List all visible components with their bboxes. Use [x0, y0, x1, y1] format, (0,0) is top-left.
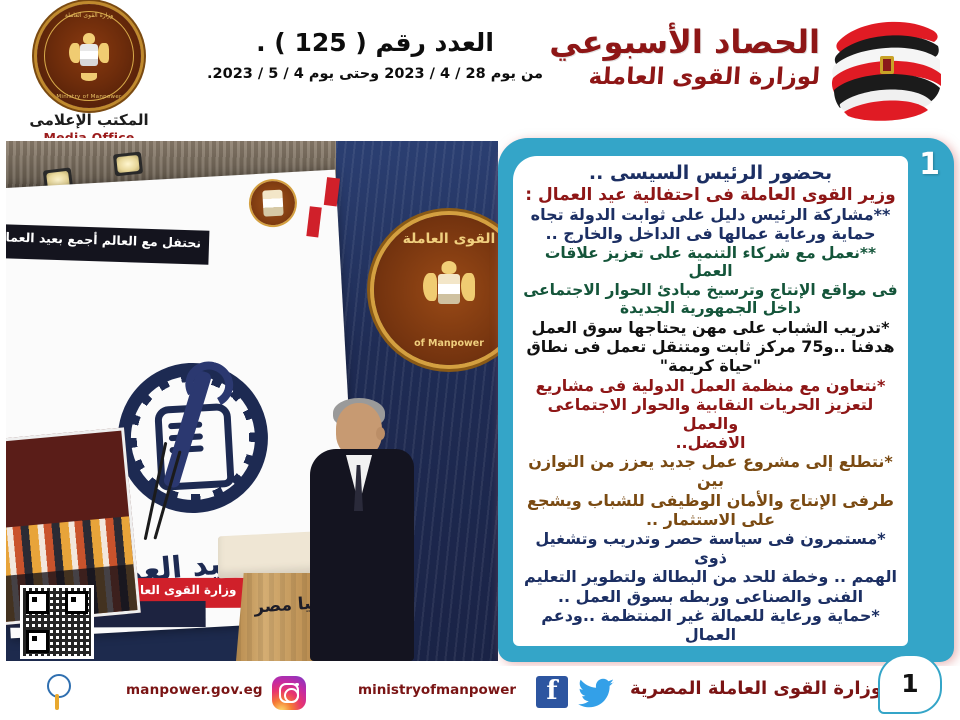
newsletter-page: وزارة القوى العاملة Ministry of Manpower… — [0, 0, 960, 720]
news-line: الافضل.. — [521, 433, 900, 452]
panel-content: بحضور الرئيس السيسى ..وزير القوى العاملة… — [513, 156, 908, 646]
news-line: لتعزيز الحريات النقابية والحوار الاجتماع… — [521, 395, 900, 433]
page-header: وزارة القوى العاملة Ministry of Manpower… — [0, 0, 960, 138]
backdrop-seal-text-en: of Manpower — [374, 338, 498, 349]
shield-stripe-bottom — [80, 59, 98, 66]
news-line: وزير القوى العاملة فى احتفالية عيد العما… — [521, 185, 900, 205]
panel-number-badge: 1 — [919, 150, 940, 180]
ministry-logo-block: وزارة القوى العاملة Ministry of Manpower… — [14, 4, 164, 134]
seal-top-text: وزارة القوى العاملة — [37, 12, 141, 19]
globe-stem — [55, 694, 59, 710]
news-line: *حماية ورعاية للعمالة غير المنتظمة ..ودع… — [521, 606, 900, 644]
stage-light-2 — [113, 152, 143, 177]
eagle-wing-left — [69, 43, 80, 63]
speaker-person — [306, 403, 418, 661]
news-line: الفنى والصناعى وربطه بسوق العمل .. — [521, 587, 900, 606]
social-account-name[interactable]: وزارة القوى العاملة المصرية — [630, 678, 882, 699]
egypt-flag-globe-icon — [828, 12, 946, 124]
person-ear — [376, 427, 385, 440]
backdrop-wing-left — [423, 273, 437, 301]
ministry-seal-icon: وزارة القوى العاملة Ministry of Manpower — [37, 4, 141, 108]
seal-bottom-text: Ministry of Manpower — [37, 94, 141, 100]
globe-search-icon — [44, 674, 70, 710]
media-office-arabic: المكتب الإعلامى — [14, 111, 164, 129]
screen-banner-text: نحتفل مع العالم أجمع بعيد العمال — [6, 229, 201, 250]
eagle-head — [83, 33, 95, 44]
backdrop-seal-text-ar: القوى العاملة — [374, 231, 498, 247]
news-line: **نعمل مع شركاء التنمية على تعزيز علاقات… — [521, 244, 900, 281]
news-line: بحضور الرئيس السيسى .. — [521, 162, 900, 185]
event-photo: القوى العاملة of Manpower نحتفل مع العال… — [6, 141, 498, 661]
backdrop-ministry-seal-icon: القوى العاملة of Manpower — [374, 215, 498, 365]
news-lines: بحضور الرئيس السيسى ..وزير القوى العاملة… — [513, 156, 908, 646]
eagle-tail — [81, 73, 97, 81]
backdrop-eagle-shield — [438, 274, 460, 304]
instagram-lens — [284, 688, 299, 703]
news-line: **مشاركة الرئيس دليل على ثوابت الدولة تج… — [521, 205, 900, 224]
news-line: *تدريب الشباب على مهن يحتاجها سوق العمل — [521, 318, 900, 337]
shield-stripe-top — [80, 44, 98, 51]
news-line: فى مواقع الإنتاج وترسيخ مبادئ الحوار الا… — [521, 281, 900, 300]
page-body: القوى العاملة of Manpower نحتفل مع العال… — [0, 138, 960, 666]
backdrop-eagle-head — [442, 261, 457, 274]
news-line: *مستمرون فى سياسة حصر وتدريب وتشغيل ذوى — [521, 529, 900, 567]
screen-eagle-seal-icon — [250, 180, 296, 226]
news-line: *نتعاون مع منظمة العمل الدولية فى مشاريع — [521, 376, 900, 395]
screen-red-tick-1 — [306, 206, 321, 237]
globe-ring — [47, 674, 71, 698]
shield-stripe-mid — [80, 51, 98, 58]
backdrop-wing-right — [461, 273, 475, 301]
backdrop-eagle-icon — [424, 261, 474, 319]
facebook-icon[interactable]: f — [536, 676, 568, 708]
news-line: داخل الجمهورية الجديدة — [521, 299, 900, 318]
news-line: *نتطلع إلى مشروع عمل جديد يعزز من التواز… — [521, 452, 900, 490]
page-number-badge: 1 — [878, 654, 942, 714]
instagram-handle[interactable]: ministryofmanpower — [358, 682, 516, 698]
twitter-icon[interactable] — [578, 678, 616, 708]
qr-eye-top-left — [26, 591, 49, 614]
news-line: هدفنا ..و75 مركز ثابت ومتنقل تعمل فى نطا… — [521, 337, 900, 356]
fist-wrench-gear-icon — [114, 359, 272, 517]
news-line: على الاستثمار .. — [521, 510, 900, 529]
page-title: الحصاد الأسبوعي — [490, 26, 820, 60]
eagle-wing-right — [98, 43, 109, 63]
news-text-panel: 1 بحضور الرئيس السيسى ..وزير القوى العام… — [498, 138, 954, 662]
eagle-shield — [80, 44, 98, 66]
instagram-dot — [295, 683, 298, 686]
page-footer: manpower.gov.eg ministryofmanpower f وزا… — [0, 666, 960, 720]
screen-banner-bar: نحتفل مع العالم أجمع بعيد العمال — [6, 224, 209, 265]
qr-code-icon[interactable] — [20, 585, 94, 659]
news-line: حماية ورعاية عمالها فى الداخل والخارج .. — [521, 224, 900, 243]
instagram-icon[interactable] — [272, 676, 306, 710]
newsletter-title-block: الحصاد الأسبوعي لوزارة القوى العاملة — [490, 26, 820, 90]
page-number: 1 — [880, 669, 940, 698]
website-url[interactable]: manpower.gov.eg — [126, 682, 263, 698]
qr-eye-bottom-left — [26, 630, 49, 653]
news-line: الهمم .. وخطة للحد من البطالة ولتطوير ال… — [521, 567, 900, 586]
qr-eye-top-right — [65, 591, 88, 614]
facebook-glyph: f — [536, 678, 568, 704]
page-subtitle: لوزارة القوى العاملة — [489, 64, 821, 90]
news-line: فى الشركات المتعثرة ..وتفعيل لمنظومة الت… — [521, 644, 900, 646]
news-line: طرفى الإنتاج والأمان الوظيفى للشباب ويشج… — [521, 491, 900, 510]
news-line: "حياة كريمة" — [521, 356, 900, 375]
eagle-emblem-icon — [69, 33, 109, 79]
